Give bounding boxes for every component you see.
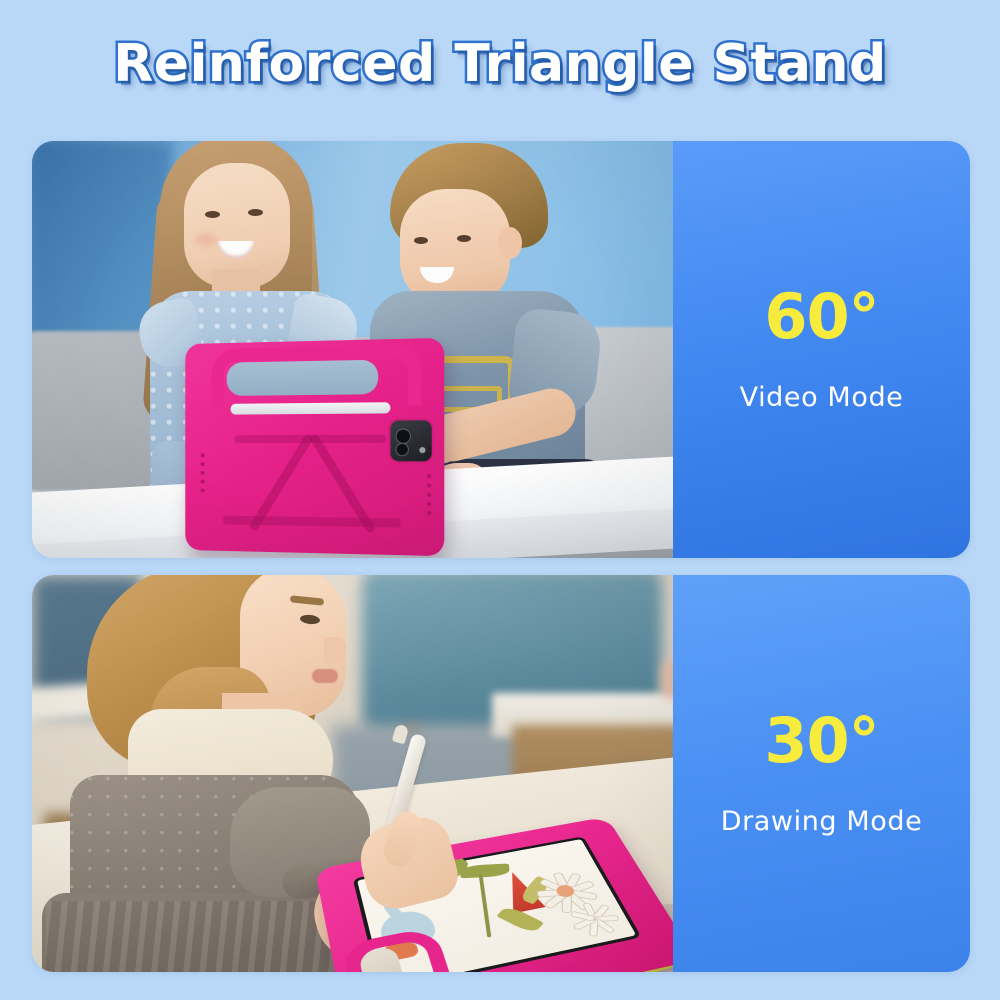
feature-panel-video-mode: 60° Video Mode: [32, 141, 970, 558]
scene-drawing-room: [32, 575, 673, 972]
boy-eye-right: [457, 235, 471, 242]
info-block-video-mode: 60° Video Mode: [673, 141, 970, 558]
info-block-drawing-mode: 30° Drawing Mode: [673, 575, 970, 972]
angle-value-drawing: 30°: [764, 710, 878, 772]
mode-label-video: Video Mode: [740, 382, 904, 413]
camera-flash: [419, 447, 425, 453]
product-infographic-page: Reinforced Triangle Stand: [0, 0, 1000, 1000]
girl-eye-right: [248, 209, 263, 216]
drawing-girl-lips: [312, 669, 338, 683]
stylus-holder-slot: [231, 402, 391, 414]
girl-eye-left: [205, 211, 220, 218]
artwork-flower-small: [562, 898, 625, 940]
feature-panel-drawing-mode: 30° Drawing Mode: [32, 575, 970, 972]
drawing-girl-nose: [324, 637, 346, 663]
tablet-case-pink: [185, 338, 444, 556]
artwork-stem: [479, 875, 492, 938]
boy-eye-left: [414, 237, 428, 244]
background-vase: [662, 659, 673, 699]
case-carry-handle: [212, 345, 422, 407]
camera-lens-secondary: [396, 443, 409, 456]
scene-living-room: [32, 141, 673, 558]
girl-cheek: [195, 233, 217, 246]
page-title: Reinforced Triangle Stand: [113, 34, 886, 94]
tablet-camera-module: [388, 418, 433, 463]
boy-ear: [498, 227, 522, 259]
case-button-cutout-2: [547, 963, 587, 972]
page-title-container: Reinforced Triangle Stand: [0, 34, 1000, 112]
camera-lens-primary: [396, 429, 411, 444]
photo-video-mode: [32, 141, 673, 558]
case-vent-dots-right: [427, 472, 432, 517]
photo-drawing-mode: [32, 575, 673, 972]
mode-label-drawing: Drawing Mode: [721, 806, 923, 837]
case-vent-dots-left: [200, 451, 205, 494]
angle-value-video: 60°: [764, 286, 878, 348]
boy-face: [400, 189, 510, 307]
